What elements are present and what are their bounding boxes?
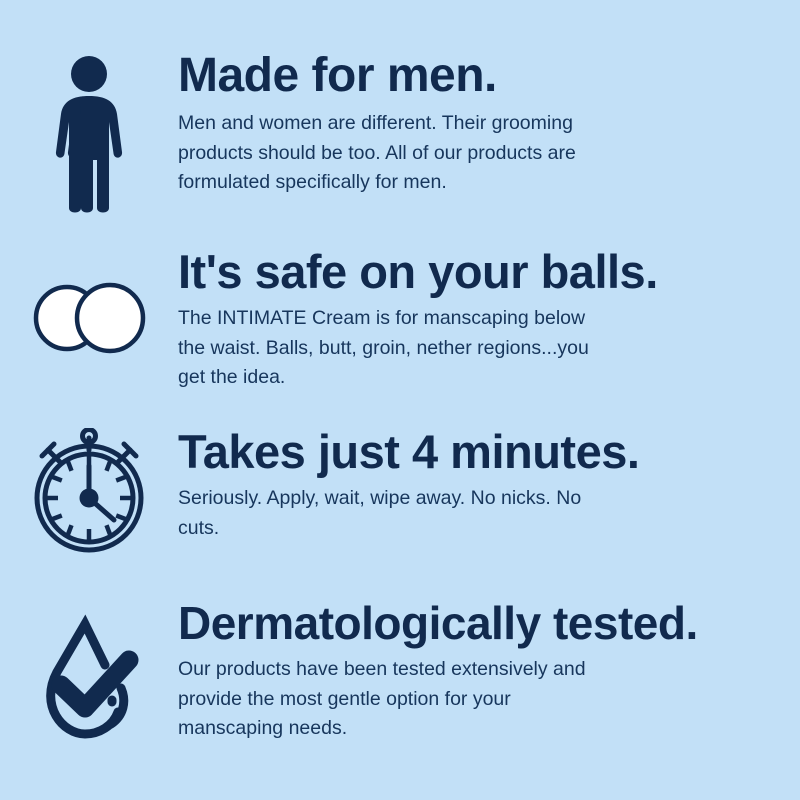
two-circles-balls-icon <box>30 280 148 356</box>
text-cell: Takes just 4 minutes. Seriously. Apply, … <box>178 428 800 543</box>
feature-headline: Takes just 4 minutes. <box>178 428 796 475</box>
feature-headline: Dermatologically tested. <box>178 600 796 646</box>
text-cell: It's safe on your balls. The INTIMATE Cr… <box>178 248 800 393</box>
feature-body: Our products have been tested extensivel… <box>178 655 598 744</box>
feature-body: Seriously. Apply, wait, wipe away. No ni… <box>178 484 598 543</box>
feature-row-four-minutes: Takes just 4 minutes. Seriously. Apply, … <box>0 428 800 554</box>
text-cell: Made for men. Men and women are differen… <box>178 52 800 198</box>
person-standing-icon <box>53 56 125 216</box>
icon-cell <box>0 52 178 216</box>
icon-cell <box>0 600 178 740</box>
text-cell: Dermatologically tested. Our products ha… <box>178 600 800 744</box>
infographic-page: Made for men. Men and women are differen… <box>0 0 800 800</box>
feature-row-safe-on-balls: It's safe on your balls. The INTIMATE Cr… <box>0 248 800 393</box>
stopwatch-icon <box>26 428 152 554</box>
icon-cell <box>0 428 178 554</box>
droplet-checkmark-icon <box>33 610 145 740</box>
feature-row-derm-tested: Dermatologically tested. Our products ha… <box>0 600 800 744</box>
icon-cell <box>0 248 178 356</box>
feature-body: Men and women are different. Their groom… <box>178 109 608 198</box>
feature-body: The INTIMATE Cream is for manscaping bel… <box>178 304 598 393</box>
feature-headline: Made for men. <box>178 52 796 100</box>
feature-row-made-for-men: Made for men. Men and women are differen… <box>0 52 800 216</box>
feature-headline: It's safe on your balls. <box>178 248 796 295</box>
